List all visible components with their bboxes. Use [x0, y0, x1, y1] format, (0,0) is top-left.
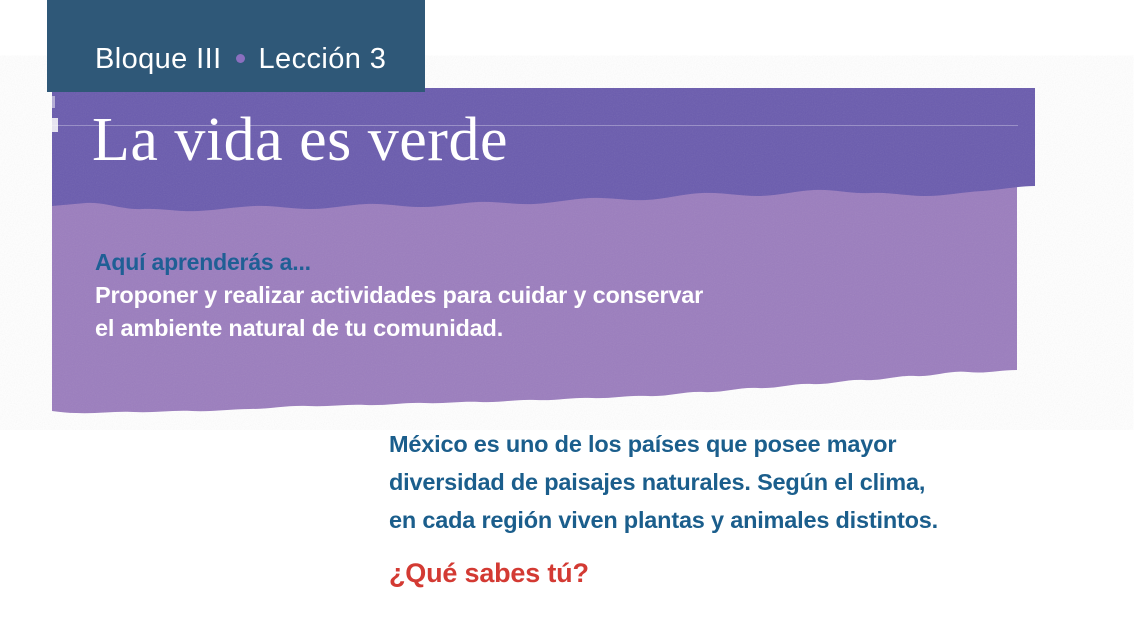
lesson-eyebrow-text: Bloque IIILección 3 — [95, 45, 386, 74]
torn-right-notch — [1017, 150, 1035, 192]
learning-objectives-line-2: el ambiente natural de tu comunidad. — [95, 312, 935, 345]
intro-line-3: en cada región viven plantas y animales … — [389, 501, 1049, 539]
textbook-lesson-page: Bloque IIILección 3 La vida es verde Aqu… — [0, 0, 1135, 630]
intro-line-1: México es uno de los países que posee ma… — [389, 425, 1049, 463]
page-title: La vida es verde — [92, 108, 508, 173]
prompt-question: ¿Qué sabes tú? — [389, 557, 589, 589]
learning-objectives-line-1: Proponer y realizar actividades para cui… — [95, 279, 935, 312]
intro-paragraph: México es uno de los países que posee ma… — [389, 425, 1049, 539]
learning-objectives-block: Aquí aprenderás a... Proponer y realizar… — [95, 246, 935, 345]
torn-paper-banner: Bloque IIILección 3 La vida es verde Aqu… — [0, 0, 1135, 430]
block-label: Bloque III — [95, 43, 222, 75]
lesson-label: Lección 3 — [259, 43, 387, 75]
intro-line-2: diversidad de paisajes naturales. Según … — [389, 463, 1049, 501]
learning-objectives-heading: Aquí aprenderás a... — [95, 246, 935, 279]
bullet-dot-icon — [236, 54, 245, 63]
